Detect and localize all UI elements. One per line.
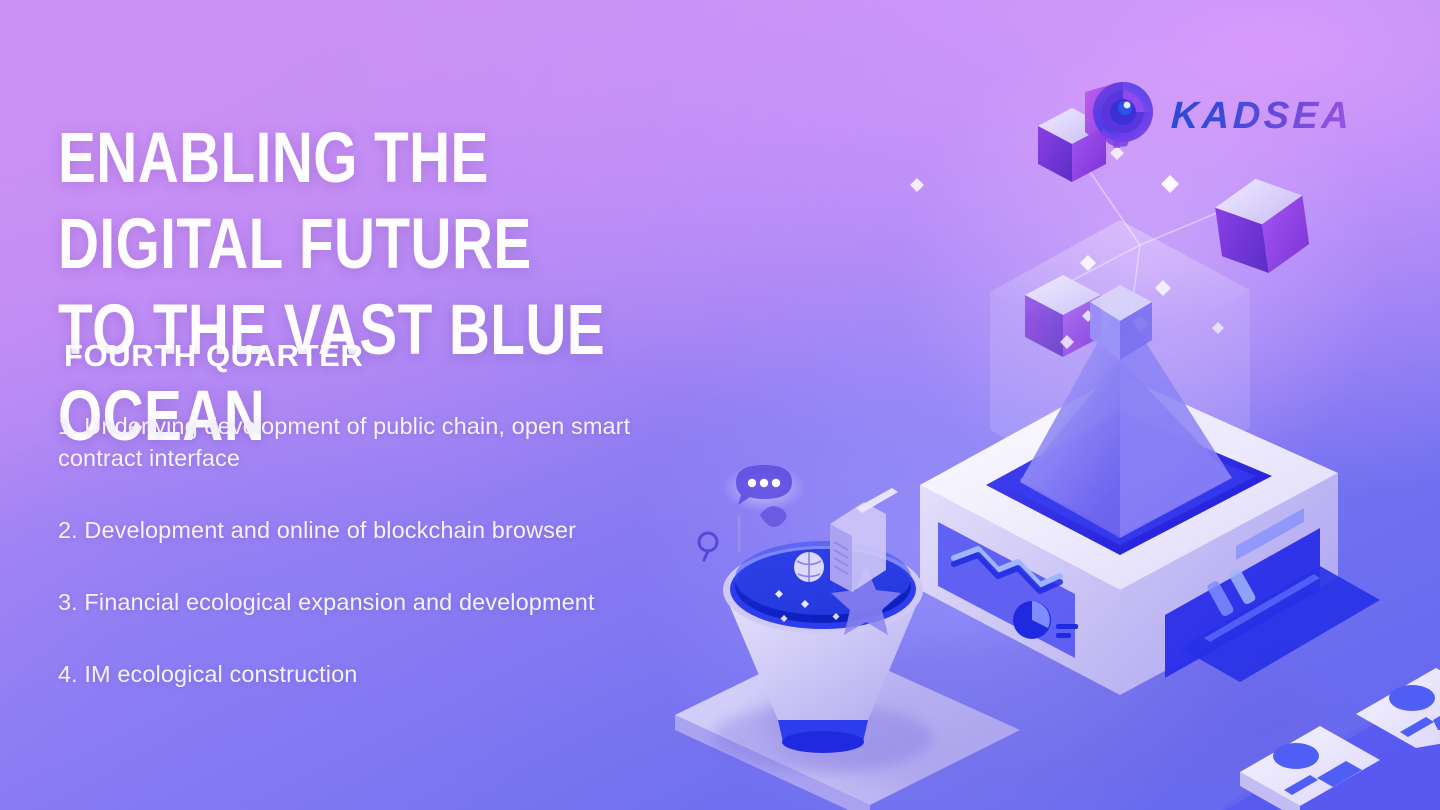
roadmap-list: 1. Underlying development of public chai… [58, 410, 718, 690]
spiral-eye-icon [1073, 70, 1165, 162]
page-title: ENABLING THE DIGITAL FUTURE TO THE VAST … [58, 116, 722, 460]
brand-wordmark: KADSEA [1170, 95, 1353, 138]
list-item: 2. Development and online of blockchain … [58, 514, 718, 546]
slide-canvas: ENABLING THE DIGITAL FUTURE TO THE VAST … [0, 0, 1440, 810]
chat-bubble-icon [722, 464, 806, 512]
list-item: 3. Financial ecological expansion and de… [58, 586, 718, 618]
list-item: 4. IM ecological construction [58, 658, 718, 690]
globe-glyph [794, 552, 824, 582]
floating-cube-right [1212, 173, 1312, 279]
brand-logo: KADSEA [1073, 70, 1373, 162]
funnel-bowl [713, 530, 933, 772]
section-kicker: FOURTH QUARTER [64, 338, 363, 374]
list-item: 1. Underlying development of public chai… [58, 410, 718, 474]
